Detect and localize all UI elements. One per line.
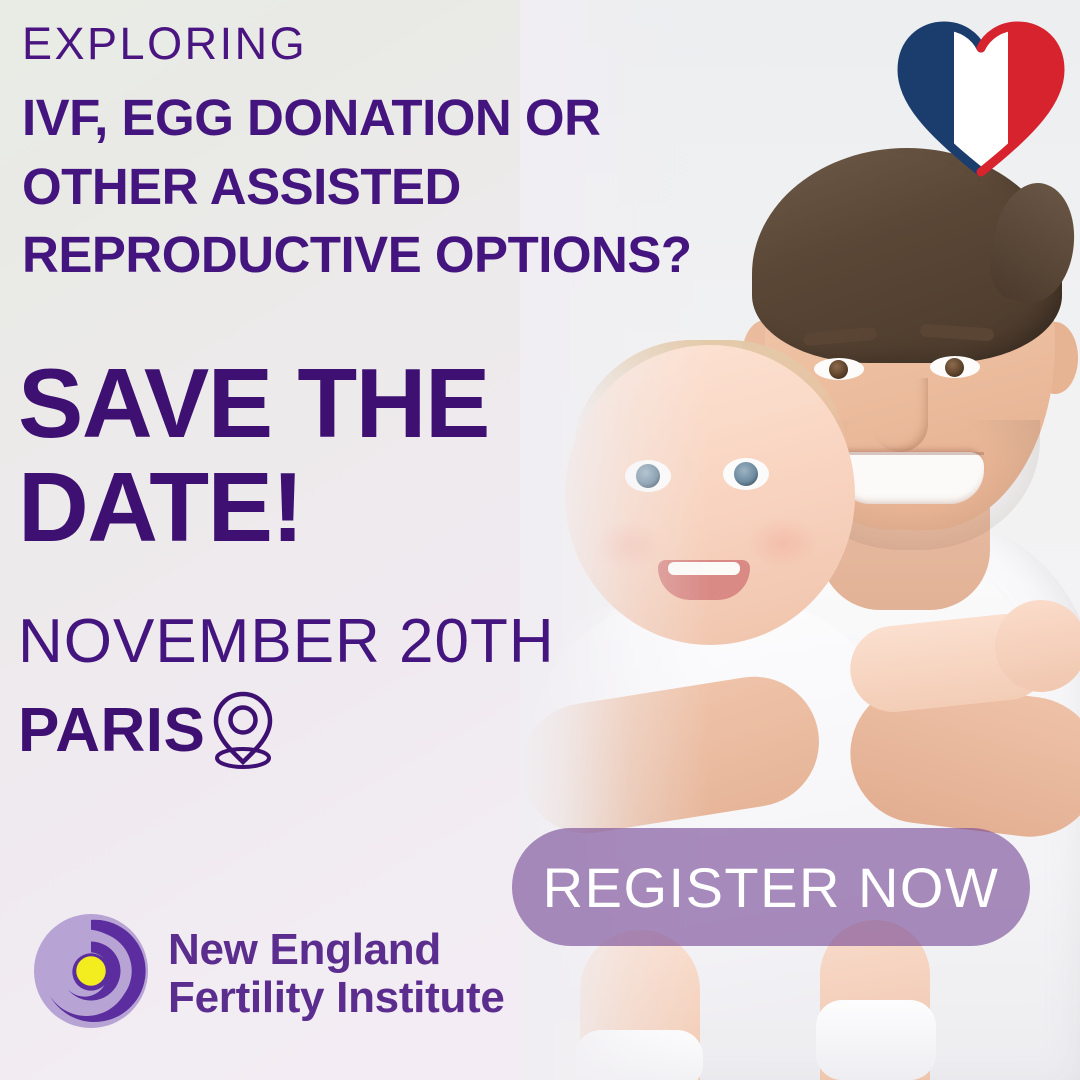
man-eye-right xyxy=(930,356,980,378)
man-iris-left xyxy=(829,360,848,379)
location-pin-icon xyxy=(203,684,283,775)
register-now-button[interactable]: REGISTER NOW xyxy=(512,828,1030,946)
headline-line-2: OTHER ASSISTED xyxy=(22,153,842,221)
baby-leg-left xyxy=(580,930,700,1080)
baby-smile xyxy=(658,560,750,600)
baby-iris-right xyxy=(734,462,758,486)
save-the-date-block: SAVE THE DATE! xyxy=(18,352,658,560)
baby-sock-left xyxy=(575,1030,703,1080)
brand-logo[interactable]: New England Fertility Institute xyxy=(32,912,505,1035)
french-flag-heart-icon xyxy=(892,12,1070,178)
man-ear-right xyxy=(1032,322,1078,394)
event-city: PARIS xyxy=(18,700,205,762)
baby-hand xyxy=(995,600,1080,692)
brand-name-line-1: New England xyxy=(168,926,505,974)
headline-line-3: REPRODUCTIVE OPTIONS? xyxy=(22,221,842,289)
brand-name-line-2: Fertility Institute xyxy=(168,974,505,1022)
man-arm-right xyxy=(842,675,1080,844)
baby-eye-right xyxy=(723,458,769,490)
brand-logo-text: New England Fertility Institute xyxy=(168,926,505,1021)
man-stubble xyxy=(782,420,1040,550)
man-eye-left xyxy=(814,358,864,380)
baby-sock-right xyxy=(816,1000,936,1080)
baby-cheek-right xyxy=(748,518,818,568)
man-eyebrow-right xyxy=(920,323,995,341)
event-date: NOVEMBER 20TH xyxy=(18,608,718,676)
man-eyebrow-left xyxy=(803,327,878,346)
man-shirt xyxy=(580,520,1080,1080)
kicker-text: EXPLORING xyxy=(22,16,842,72)
man-neck xyxy=(820,430,990,610)
man-ear-left xyxy=(742,320,788,392)
baby-arm-right xyxy=(846,610,1054,716)
save-the-date-line-2: DATE! xyxy=(18,456,658,560)
man-smile xyxy=(836,452,984,504)
poster-canvas: EXPLORING IVF, EGG DONATION OR OTHER ASS… xyxy=(0,0,1080,1080)
save-the-date-line-1: SAVE THE xyxy=(18,352,658,456)
event-details-block: NOVEMBER 20TH PARIS xyxy=(18,608,718,777)
spiral-logo-icon xyxy=(32,912,150,1035)
headline-line-1: IVF, EGG DONATION OR xyxy=(22,84,842,152)
headline-block: EXPLORING IVF, EGG DONATION OR OTHER ASS… xyxy=(22,16,842,289)
event-location-row: PARIS xyxy=(18,684,718,777)
man-iris-right xyxy=(945,358,964,377)
man-nose xyxy=(872,378,928,452)
